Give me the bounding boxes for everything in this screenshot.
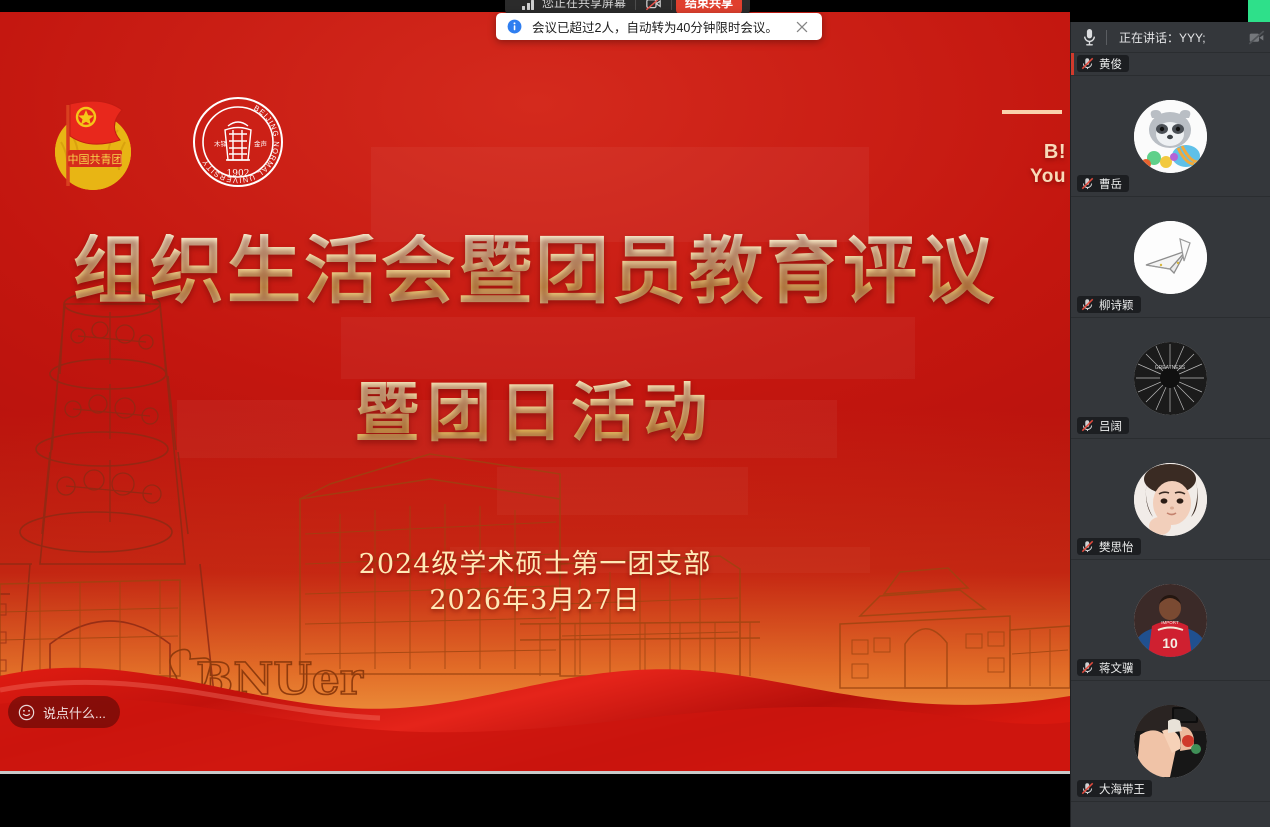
svg-text:GREATNESS: GREATNESS: [1155, 365, 1186, 371]
slide-subtitle-org: 2024级学术硕士第一团支部: [0, 547, 1070, 583]
end-share-button[interactable]: 结束共享: [676, 0, 742, 14]
header-divider: [1106, 30, 1107, 45]
svg-text:金声: 金声: [254, 139, 268, 148]
slide-accent-dash: [1002, 110, 1062, 114]
slide-logos: 中国共青团 BEIJING NORMAL UNIVERSITY: [38, 90, 284, 194]
meeting-notification-toast: 会议已超过2人，自动转为40分钟限时会议。: [496, 13, 822, 40]
football-player-avatar-image: 10IMPORT: [1134, 584, 1207, 657]
speaking-name: YYY;: [1179, 31, 1206, 45]
svg-text:IMPORT: IMPORT: [1161, 620, 1179, 625]
presentation-slide: BNUer: [0, 12, 1070, 774]
slide-subtitle: 2024级学术硕士第一团支部 2026年3月27日: [0, 547, 1070, 618]
participant-name: 大海带王: [1099, 781, 1145, 797]
toolbar-divider: [671, 0, 672, 10]
paper-plane-avatar-image: [1134, 221, 1207, 294]
comment-input-placeholder: 说点什么...: [43, 703, 106, 722]
mic-off-icon: [1081, 57, 1094, 70]
smiley-icon: [18, 704, 35, 721]
slide-title-line1: 组织生活会暨团员教育评议: [0, 234, 1070, 308]
child-portrait-avatar-image: [1134, 463, 1207, 536]
mic-off-icon: [1081, 661, 1094, 674]
participant-name-chip: 曹岳: [1077, 175, 1129, 192]
window-bottom-filler: [0, 774, 1070, 827]
participant-name: 吕阔: [1099, 418, 1122, 434]
slide-english-line2: You: [1030, 165, 1066, 189]
participant-name-chip: 黄俊: [1077, 55, 1129, 72]
dark-burst-avatar-image: GREATNESS: [1134, 342, 1207, 415]
svg-text:1902: 1902: [227, 169, 250, 179]
red-silk-ribbon: [0, 604, 1070, 774]
participant-name: 樊思怡: [1099, 539, 1134, 555]
svg-text:木铎: 木铎: [214, 139, 228, 148]
notification-message: 会议已超过2人，自动转为40分钟限时会议。: [532, 17, 778, 36]
participant-tile[interactable]: 大海带王: [1071, 681, 1270, 802]
info-circle-icon: [507, 19, 522, 34]
participant-tile[interactable]: 10IMPORT蒋文骥: [1071, 560, 1270, 681]
mic-off-icon: [1081, 419, 1094, 432]
svg-text:10: 10: [1162, 635, 1178, 651]
active-speaker-label: 正在讲话：YYY;: [1119, 29, 1206, 46]
beijing-normal-university-seal-icon: BEIJING NORMAL UNIVERSITY 木铎 金声 1902: [192, 96, 284, 188]
participant-name: 蒋文骥: [1099, 660, 1134, 676]
green-accent-tab: [1248, 0, 1270, 22]
participant-tile-list: 黄俊曹岳柳诗颖GREATNESS吕阔樊思怡10IMPORT蒋文骥大海带王: [1071, 53, 1270, 802]
participant-tile[interactable]: 曹岳: [1071, 76, 1270, 197]
meeting-screen-share-window: BNUer: [0, 0, 1270, 827]
participant-tile[interactable]: 柳诗颖: [1071, 197, 1270, 318]
slide-english-line1: B!: [1030, 140, 1066, 165]
slide-subtitle-date: 2026年3月27日: [0, 583, 1070, 619]
participant-name-chip: 蒋文骥: [1077, 659, 1141, 676]
mic-off-icon: [1081, 177, 1094, 190]
video-muted-icon[interactable]: [1248, 29, 1265, 46]
participant-name-chip: 柳诗颖: [1077, 296, 1141, 313]
slide-english-accent: B! You: [1030, 140, 1066, 189]
active-speaker-header: 正在讲话：YYY;: [1071, 22, 1270, 53]
raccoon-avatar-image: [1134, 100, 1207, 173]
microphone-icon: [1082, 28, 1097, 46]
shared-screen-area: BNUer: [0, 12, 1070, 774]
participant-name-chip: 吕阔: [1077, 417, 1129, 434]
participant-name: 黄俊: [1099, 56, 1122, 72]
participant-tile[interactable]: GREATNESS吕阔: [1071, 318, 1270, 439]
comment-input-box[interactable]: 说点什么...: [8, 696, 120, 728]
participant-name: 曹岳: [1099, 176, 1122, 192]
video-muted-icon: [645, 0, 662, 11]
participants-sidebar: 正在讲话：YYY; 黄俊曹岳柳诗颖GREATNESS吕阔樊思怡10IMPORT蒋…: [1070, 22, 1270, 827]
svg-text:中国共青团: 中国共青团: [68, 153, 123, 166]
speaking-prefix: 正在讲话：: [1119, 31, 1179, 45]
participant-name-chip: 大海带王: [1077, 780, 1152, 797]
hands-photo-avatar-image: [1134, 705, 1207, 778]
close-icon[interactable]: [794, 19, 810, 35]
participant-name: 柳诗颖: [1099, 297, 1134, 313]
signal-bars-icon: [522, 0, 536, 10]
communist-youth-league-emblem-icon: 中国共青团: [38, 90, 148, 194]
mic-off-icon: [1081, 782, 1094, 795]
mic-off-icon: [1081, 540, 1094, 553]
participant-tile[interactable]: 樊思怡: [1071, 439, 1270, 560]
participant-tile[interactable]: 黄俊: [1071, 53, 1270, 76]
participant-name-chip: 樊思怡: [1077, 538, 1141, 555]
slide-title-line2: 暨团日活动: [0, 362, 1070, 454]
mic-off-icon: [1081, 298, 1094, 311]
